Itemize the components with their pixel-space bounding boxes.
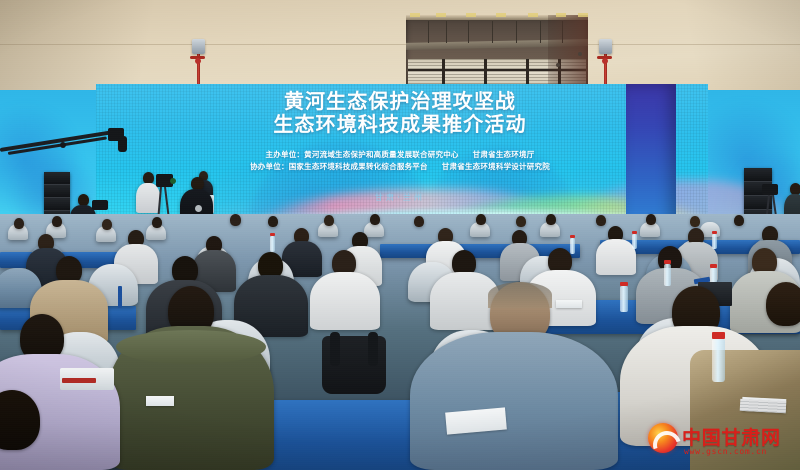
name-card-accent [62, 378, 96, 383]
gscn-logo-icon [648, 423, 678, 453]
paper-document [556, 300, 582, 308]
paper-document [146, 396, 174, 406]
lanyard [118, 286, 122, 308]
watermark-brand: 中国甘肃网 [682, 423, 781, 450]
upper-window-bay [406, 15, 588, 89]
event-place: 甘肃·兰州 [0, 192, 800, 203]
conference-photo: 黄河生态保护治理攻坚战 生态环境科技成果推介活动 主办单位：黄河流域生态保护和高… [0, 0, 800, 470]
bay-shadow [548, 15, 588, 89]
wall-shadow-left [0, 0, 190, 96]
watermark-url: www.gscn.com.cn [684, 447, 767, 456]
backpack-strap [368, 332, 378, 366]
notes-stack [740, 399, 787, 413]
wall-shadow-right [650, 0, 800, 96]
watermark: 中国甘肃网 www.gscn.com.cn [648, 420, 796, 462]
backpack-strap [330, 332, 340, 366]
